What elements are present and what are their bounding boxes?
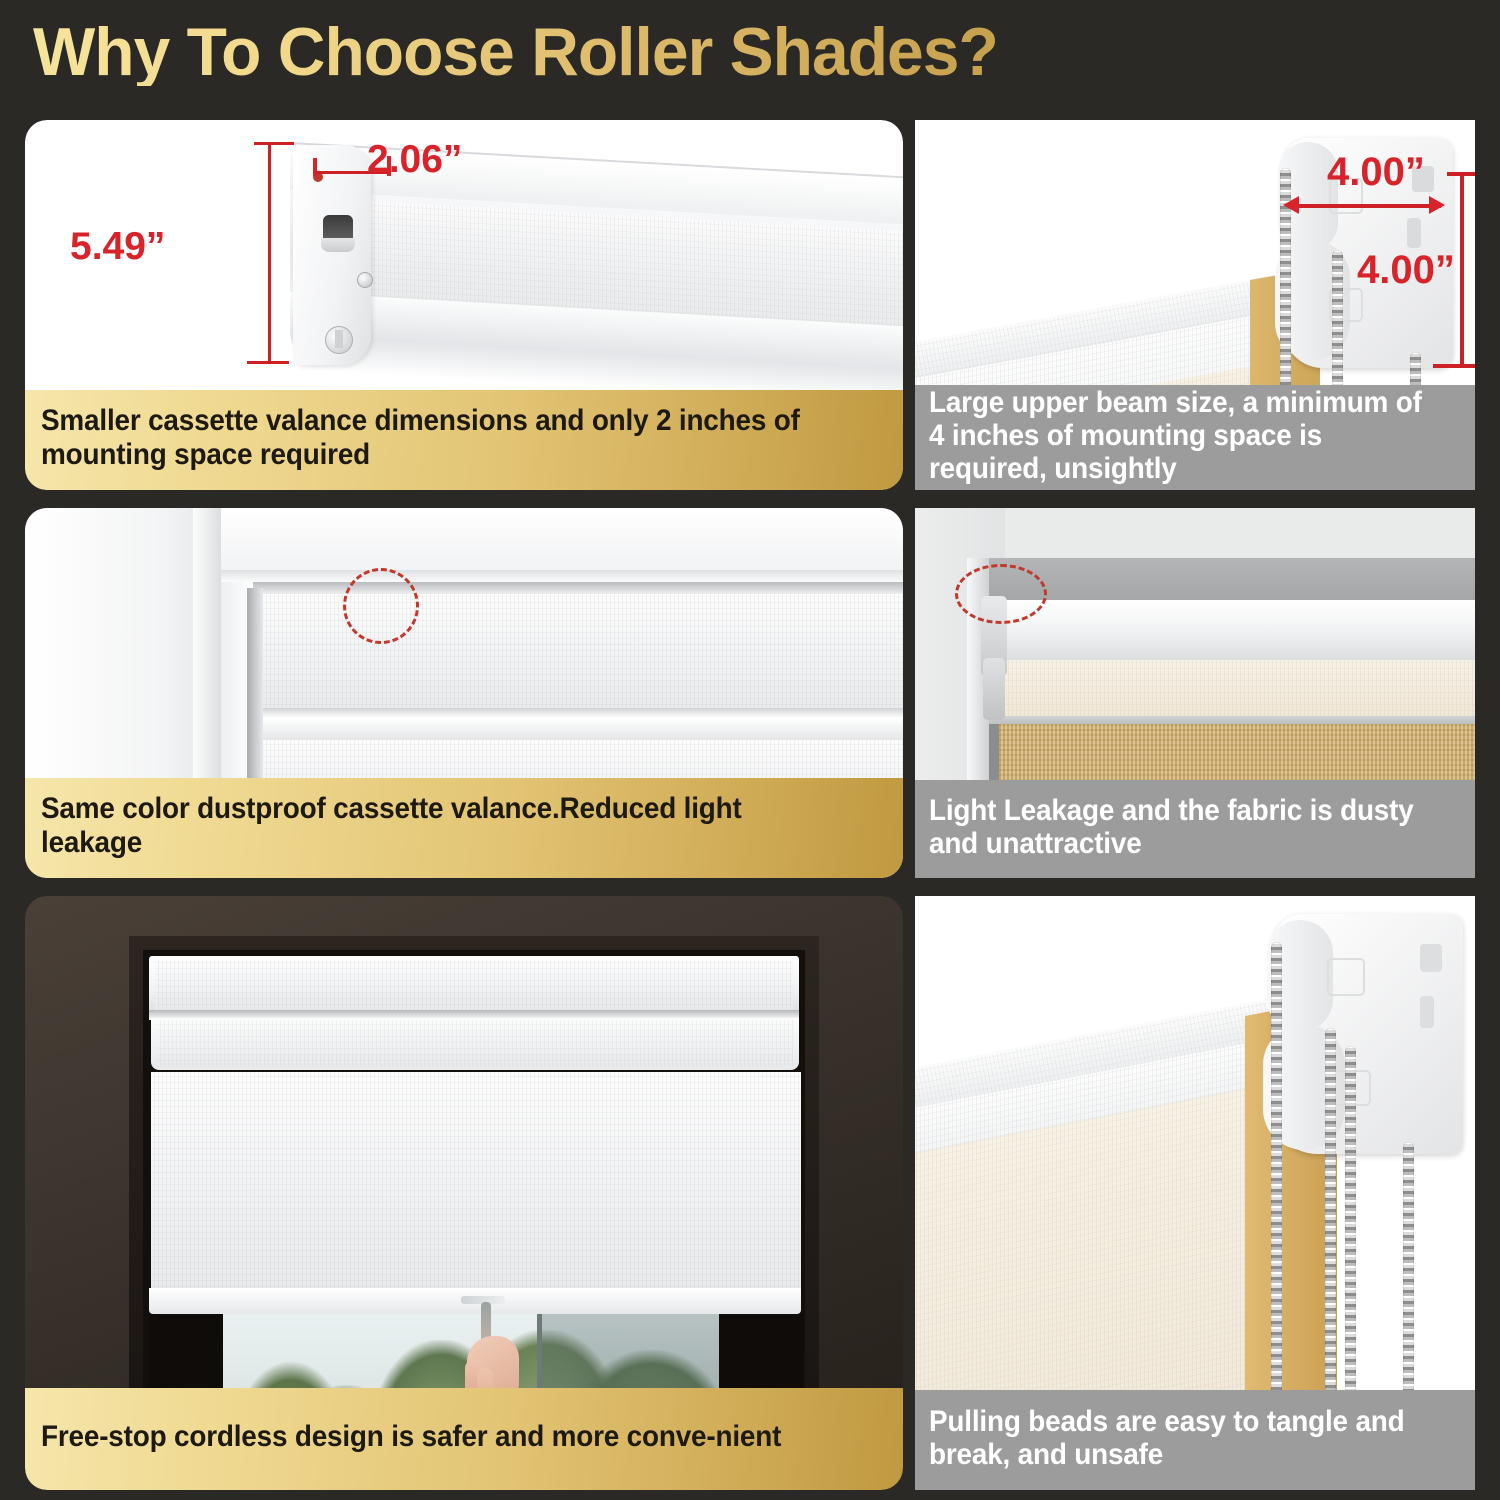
caption-text: Light Leakage and the fabric is dusty an… xyxy=(929,794,1424,860)
page-title: Why To Choose Roller Shades? xyxy=(33,18,998,86)
caption-good-smaller-gap: Same color dustproof cassette valance.Re… xyxy=(25,778,903,878)
caption-bad-beam-size: Large upper beam size, a minimum of 4 in… xyxy=(915,385,1475,490)
caption-bad-pull-beads: Pulling beads are easy to tangle and bre… xyxy=(915,1390,1475,1490)
height-dimension-label: 4.00” xyxy=(1357,248,1455,293)
comparison-grid: 2.06” 5.49” Smaller cassette valance dim… xyxy=(0,110,1500,1500)
panel-bad-beam-size: 4.00” 4.00” Large upper beam size, a min… xyxy=(915,120,1475,490)
caption-text: Smaller cassette valance dimensions and … xyxy=(41,404,828,471)
height-dimension-label: 5.49” xyxy=(70,225,165,269)
highlight-circle xyxy=(955,564,1047,624)
caption-text: Pulling beads are easy to tangle and bre… xyxy=(929,1405,1424,1471)
width-dimension-label: 2.06” xyxy=(367,138,462,182)
caption-text: Large upper beam size, a minimum of 4 in… xyxy=(929,386,1424,485)
panel-bad-pull-beads: Pulling beads are easy to tangle and bre… xyxy=(915,896,1475,1490)
header: Why To Choose Roller Shades? xyxy=(0,0,1500,110)
caption-good-cordless: Free-stop cordless design is safer and m… xyxy=(25,1388,903,1490)
highlight-circle xyxy=(343,568,419,644)
height-dimension-line xyxy=(268,142,271,364)
caption-text: Same color dustproof cassette valance.Re… xyxy=(41,792,828,859)
panel-good-cordless: Free-stop cordless design is safer and m… xyxy=(25,896,903,1490)
caption-good-cassette-size: Smaller cassette valance dimensions and … xyxy=(25,390,903,490)
caption-bad-large-gap: Light Leakage and the fabric is dusty an… xyxy=(915,780,1475,878)
width-dimension-line xyxy=(1293,204,1441,208)
caption-text: Free-stop cordless design is safer and m… xyxy=(41,1420,781,1454)
height-dimension-line xyxy=(1460,172,1464,368)
width-dimension-label: 4.00” xyxy=(1327,150,1425,195)
panel-bad-large-gap: Large gap Light Leakage and the fabric i… xyxy=(915,508,1475,878)
panel-good-smaller-gap: smaller gap Same color dustproof cassett… xyxy=(25,508,903,878)
panel-good-cassette-size: 2.06” 5.49” Smaller cassette valance dim… xyxy=(25,120,903,490)
